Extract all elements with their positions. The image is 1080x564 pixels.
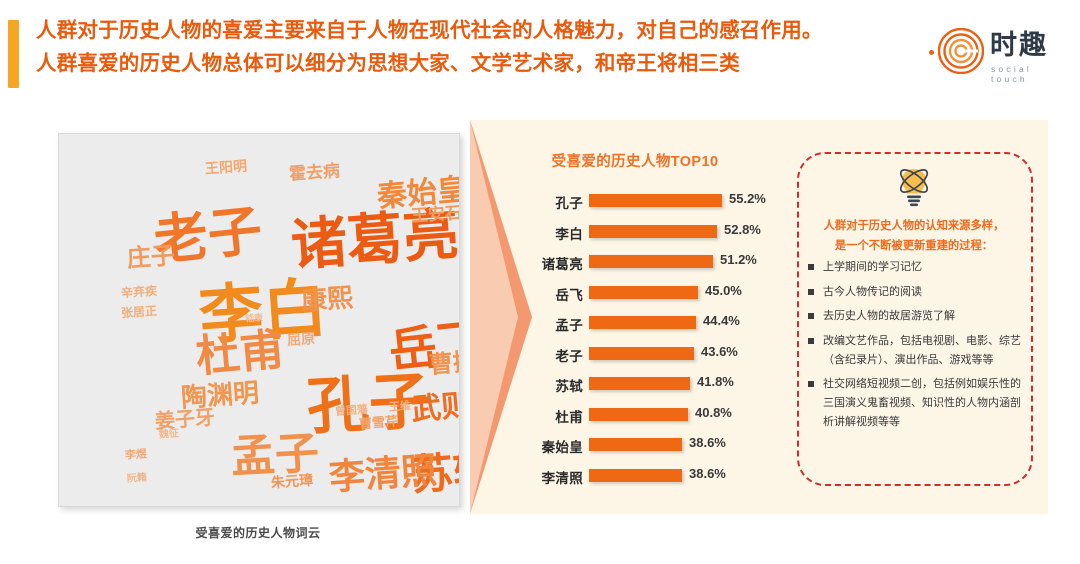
bar-category-label: 老子 xyxy=(490,345,583,365)
wordcloud-word: 王安石 xyxy=(410,204,460,225)
bar-fill xyxy=(589,255,713,268)
wordcloud-word: 屈原 xyxy=(287,331,316,347)
wordcloud-word: 曹操 xyxy=(428,350,460,378)
callout-list-item: 改编文艺作品，包括电视剧、电影、综艺（含纪录片）、演出作品、游戏等等 xyxy=(808,332,1026,370)
bar-fill xyxy=(589,286,698,299)
chart-bar-row: 孔子55.2% xyxy=(490,188,780,219)
bar-value-label: 41.8% xyxy=(697,374,734,389)
bar-category-label: 李白 xyxy=(490,223,583,243)
bar-fill xyxy=(589,438,682,451)
bullet-square-icon xyxy=(808,338,814,344)
callout-list-item-text: 古今人物传记的阅读 xyxy=(823,286,922,298)
wordcloud-word: 朱元璋 xyxy=(271,473,314,490)
bullet-square-icon xyxy=(808,381,814,387)
bar-category-label: 杜甫 xyxy=(490,406,583,426)
bar-fill xyxy=(589,408,688,421)
chart-bar-row: 李白52.8% xyxy=(490,219,780,250)
wordcloud-word: 杜甫 xyxy=(194,328,286,380)
callout-list-item-text: 去历史人物的故居游览了解 xyxy=(823,310,955,322)
wordcloud-word: 阮籍 xyxy=(127,473,148,484)
header: 人群对于历史人物的喜爱主要来自于人物在现代社会的人格魅力，对自己的感召作用。 人… xyxy=(0,14,1080,94)
chart-bar-row: 岳飞45.0% xyxy=(490,280,780,311)
brand-logo: 时趣 social touch xyxy=(938,24,1068,86)
wordcloud-word: 李清照 xyxy=(328,452,438,495)
callout-list-item: 社交网络短视频二创，包括例如娱乐性的三国演义鬼畜视频、知识性的人物内涵剖析讲解视… xyxy=(808,375,1026,432)
callout-heading: 人群对于历史人物的认知来源多样， 是一个不断被更新重建的过程： xyxy=(805,216,1023,256)
chart-bars-container: 孔子55.2%李白52.8%诸葛亮51.2%岳飞45.0%孟子44.4%老子43… xyxy=(490,188,780,493)
bar-category-label: 秦始皇 xyxy=(490,436,583,456)
spiral-icon xyxy=(938,28,984,74)
wordcloud-word: 魏征 xyxy=(159,429,180,440)
bar-fill xyxy=(589,316,696,329)
callout-heading-line-1: 人群对于历史人物的认知来源多样， xyxy=(805,216,1023,236)
chart-title: 受喜爱的历史人物TOP10 xyxy=(490,150,780,171)
wordcloud-word: 嵇康 xyxy=(245,313,264,323)
bar-fill xyxy=(589,469,682,482)
wordcloud-word: 陶渊明 xyxy=(180,379,260,410)
bar-category-label: 孟子 xyxy=(490,314,583,334)
bar-value-label: 44.4% xyxy=(703,313,740,328)
bar-value-label: 40.8% xyxy=(695,405,732,420)
bar-value-label: 52.8% xyxy=(724,222,761,237)
bar-category-label: 李清照 xyxy=(490,467,583,487)
wordcloud-word: 庄子 xyxy=(126,244,176,271)
bar-category-label: 诸葛亮 xyxy=(490,253,583,273)
bar-track xyxy=(589,255,734,268)
callout-list-item-text: 改编文艺作品，包括电视剧、电影、综艺（含纪录片）、演出作品、游戏等等 xyxy=(823,335,1021,366)
wordcloud-word: 武则天 xyxy=(410,388,460,426)
bar-value-label: 55.2% xyxy=(729,191,766,206)
wordcloud-caption: 受喜爱的历史人物词云 xyxy=(58,524,458,541)
bullet-square-icon xyxy=(808,313,814,319)
wordcloud-word: 霍去病 xyxy=(288,162,340,183)
logo-english-text: social touch xyxy=(991,64,1068,84)
callout-list-item-text: 上学期间的学习记忆 xyxy=(823,261,922,273)
callout-list-item: 古今人物传记的阅读 xyxy=(808,283,1026,302)
slide-root: 人群对于历史人物的喜爱主要来自于人物在现代社会的人格魅力，对自己的感召作用。 人… xyxy=(0,0,1080,564)
callout-list-item: 去历史人物的故居游览了解 xyxy=(808,307,1026,326)
wordcloud-word: 康熙 xyxy=(300,284,354,314)
bullet-square-icon xyxy=(808,289,814,295)
bar-value-label: 38.6% xyxy=(689,435,726,450)
logo-chinese-text: 时趣 xyxy=(990,30,1048,60)
wordcloud-word: 张居正 xyxy=(121,305,158,319)
bar-fill xyxy=(589,347,694,360)
callout-list-item: 上学期间的学习记忆 xyxy=(808,258,1026,277)
accent-bar xyxy=(8,20,19,88)
headline-line-2: 人群喜爱的历史人物总体可以细分为思想大家、文学艺术家，和帝王将相三类 xyxy=(36,47,936,80)
bar-value-label: 38.6% xyxy=(689,466,726,481)
wordcloud-word: 王维 xyxy=(389,401,412,414)
bullet-square-icon xyxy=(808,264,814,270)
top10-bar-chart: 受喜爱的历史人物TOP10 孔子55.2%李白52.8%诸葛亮51.2%岳飞45… xyxy=(490,140,780,500)
chart-bar-row: 诸葛亮51.2% xyxy=(490,249,780,280)
bar-fill xyxy=(589,377,690,390)
bar-track xyxy=(589,225,734,238)
wordcloud-word: 曾国藩 xyxy=(335,405,369,418)
bar-value-label: 51.2% xyxy=(720,252,757,267)
callout-list: 上学期间的学习记忆古今人物传记的阅读去历史人物的故居游览了解改编文艺作品，包括电… xyxy=(808,258,1026,438)
headline-block: 人群对于历史人物的喜爱主要来自于人物在现代社会的人格魅力，对自己的感召作用。 人… xyxy=(36,14,936,80)
logo-accent-dot xyxy=(929,50,934,55)
bar-fill xyxy=(589,225,717,238)
headline-line-1: 人群对于历史人物的喜爱主要来自于人物在现代社会的人格魅力，对自己的感召作用。 xyxy=(36,14,936,47)
callout-list-item-text: 社交网络短视频二创，包括例如娱乐性的三国演义鬼畜视频、知识性的人物内涵剖析讲解视… xyxy=(823,378,1021,428)
chart-bar-row: 秦始皇38.6% xyxy=(490,432,780,463)
wordcloud-word: 王阳明 xyxy=(205,159,248,176)
chart-bar-row: 杜甫40.8% xyxy=(490,402,780,433)
wordcloud-word: 李煜 xyxy=(125,449,148,462)
bar-track xyxy=(589,194,734,207)
bar-category-label: 岳飞 xyxy=(490,284,583,304)
wordcloud-panel: 老子诸葛亮李白孔子杜甫孟子岳飞苏轼李清照武则天秦始皇康熙陶渊明曹操庄子姜子牙霍去… xyxy=(58,133,460,507)
bar-value-label: 45.0% xyxy=(705,283,742,298)
chart-bar-row: 苏轼41.8% xyxy=(490,371,780,402)
bar-category-label: 孔子 xyxy=(490,192,583,212)
chart-bar-row: 老子43.6% xyxy=(490,341,780,372)
callout-heading-line-2: 是一个不断被更新重建的过程： xyxy=(805,236,1023,256)
wordcloud-word: 曹雪芹 xyxy=(359,414,399,430)
bar-category-label: 苏轼 xyxy=(490,375,583,395)
bar-fill xyxy=(589,194,722,207)
chart-bar-row: 孟子44.4% xyxy=(490,310,780,341)
bar-value-label: 43.6% xyxy=(701,344,738,359)
chart-bar-row: 李清照38.6% xyxy=(490,463,780,494)
lightbulb-idea-icon xyxy=(893,165,935,209)
wordcloud-word: 辛弃疾 xyxy=(121,285,158,299)
